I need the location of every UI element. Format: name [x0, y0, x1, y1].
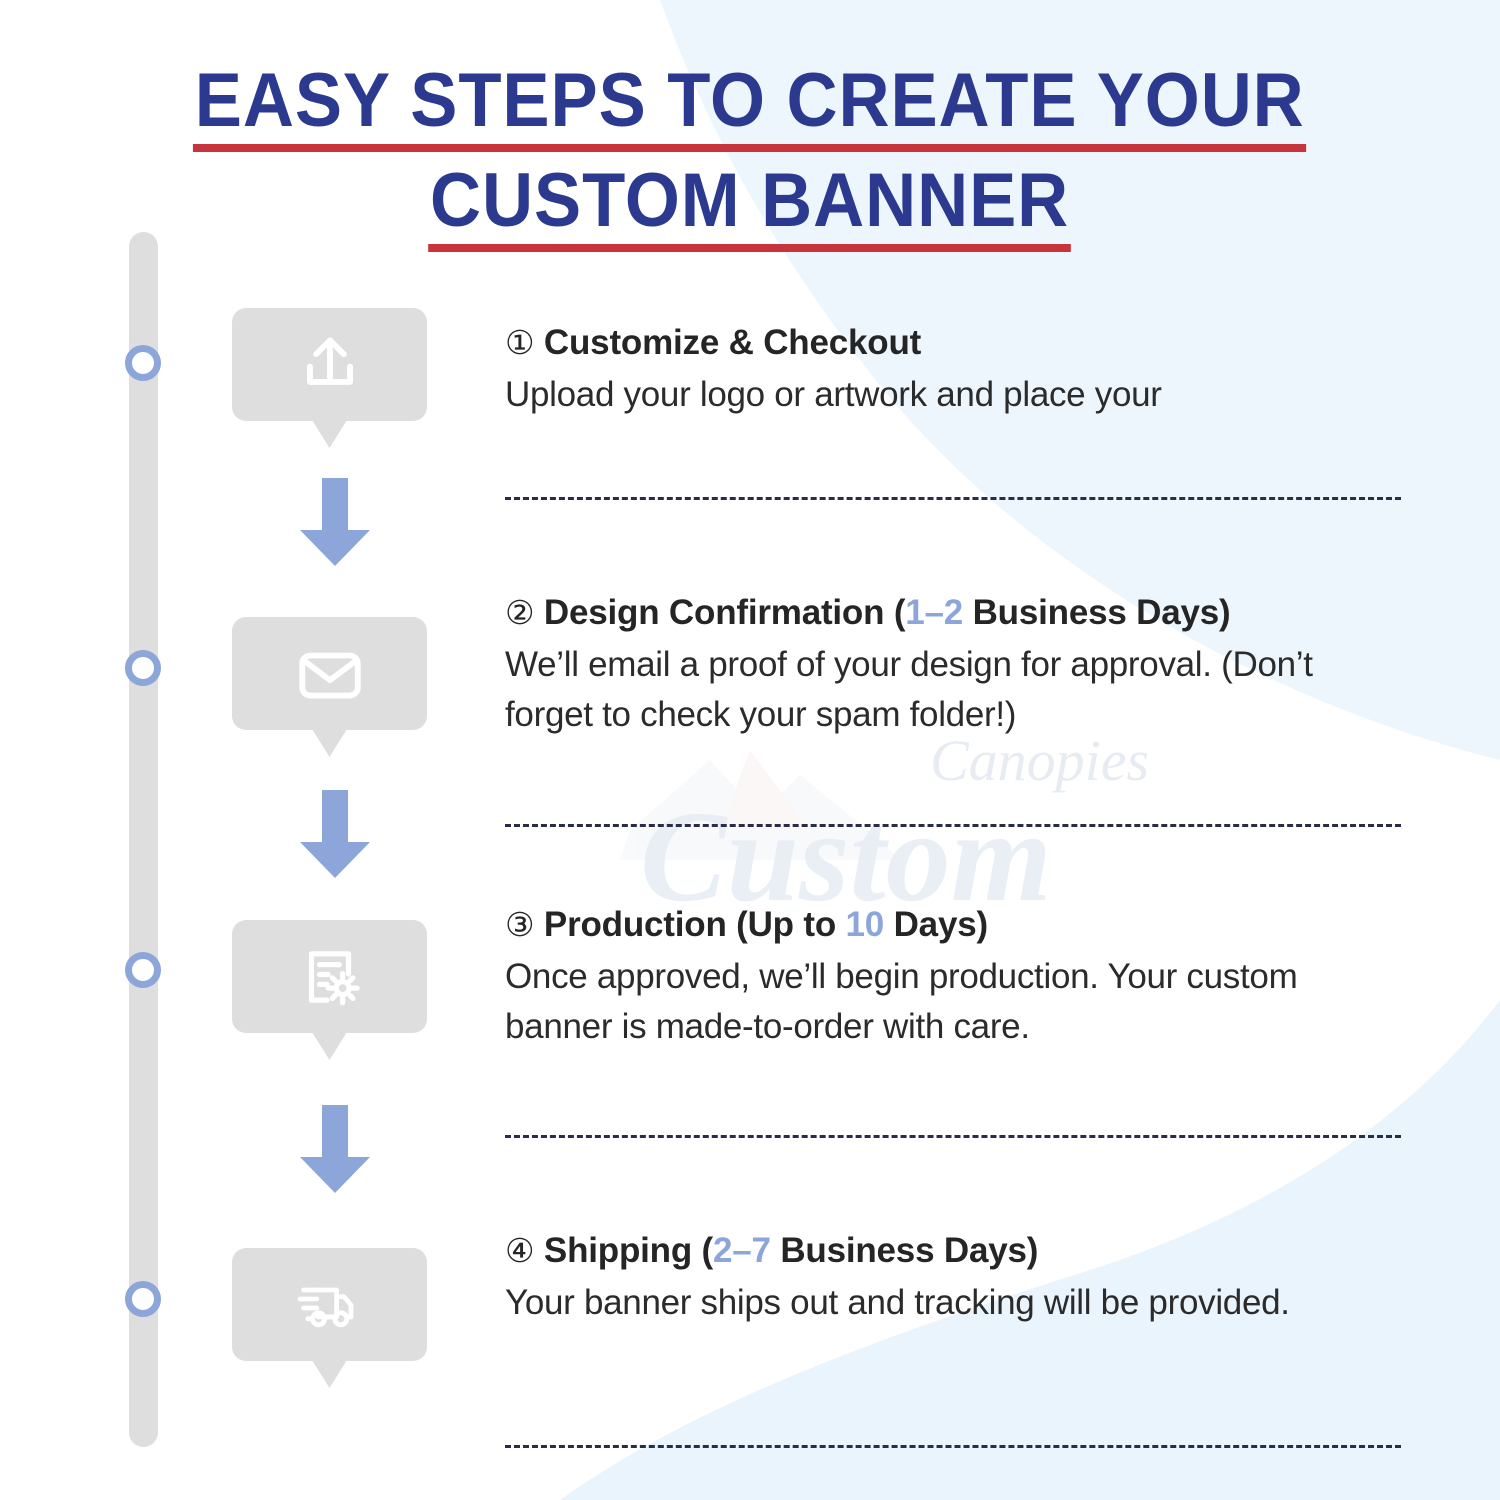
timeline-dot-3 [125, 952, 161, 988]
infographic-page: Canopies Custom EASY STEPS TO CREATE YOU… [0, 0, 1500, 1500]
flow-arrow-3 [296, 1105, 374, 1195]
step-heading-4: ④ Shipping (2–7 Business Days) [505, 1228, 1405, 1274]
step-text-1: ① Customize & Checkout Upload your logo … [505, 320, 1405, 420]
step-heading-1: ① Customize & Checkout [505, 320, 1405, 366]
step-heading-prefix-1: Customize & Checkout [544, 323, 921, 362]
document-gear-icon [232, 920, 427, 1033]
step-divider-4 [505, 1445, 1401, 1448]
timeline-rail [129, 232, 158, 1447]
step-heading-accent-4: 2–7 [713, 1231, 771, 1270]
flow-arrow-2 [296, 790, 374, 880]
page-title-line-1: EASY STEPS TO CREATE YOUR [189, 58, 1310, 154]
step-heading-prefix-3: Production (Up to [544, 905, 846, 944]
envelope-icon [232, 617, 427, 730]
step-text-3: ③ Production (Up to 10 Days) Once approv… [505, 902, 1405, 1052]
step-number-3: ③ [505, 906, 534, 943]
step-number-2: ② [505, 594, 534, 631]
step-number-1: ① [505, 324, 534, 361]
step-number-4: ④ [505, 1232, 534, 1269]
step-heading-suffix-3: Days) [884, 905, 988, 944]
step-badge-tail-2 [232, 729, 427, 759]
step-heading-prefix-4: Shipping ( [544, 1231, 713, 1270]
step-heading-3: ③ Production (Up to 10 Days) [505, 902, 1405, 948]
step-badge-tail-3 [232, 1032, 427, 1062]
step-body-1: Upload your logo or artwork and place yo… [505, 370, 1405, 420]
step-divider-2 [505, 824, 1401, 827]
step-badge-tail-1 [232, 420, 427, 450]
step-badge-tail-4 [232, 1360, 427, 1390]
page-title-line-2: CUSTOM BANNER [425, 158, 1075, 254]
flow-arrow-1 [296, 478, 374, 568]
step-divider-3 [505, 1135, 1401, 1138]
delivery-truck-icon [232, 1248, 427, 1361]
step-text-4: ④ Shipping (2–7 Business Days) Your bann… [505, 1228, 1405, 1328]
page-title: EASY STEPS TO CREATE YOUR CUSTOM BANNER [0, 58, 1500, 254]
step-body-3: Once approved, we’ll begin production. Y… [505, 952, 1405, 1052]
timeline-dot-1 [125, 345, 161, 381]
step-heading-suffix-4: Business Days) [771, 1231, 1038, 1270]
upload-icon [232, 308, 427, 421]
timeline-dot-4 [125, 1281, 161, 1317]
step-divider-1 [505, 497, 1401, 500]
step-heading-2: ② Design Confirmation (1–2 Business Days… [505, 590, 1405, 636]
step-body-4: Your banner ships out and tracking will … [505, 1278, 1405, 1328]
step-heading-accent-3: 10 [846, 905, 885, 944]
step-heading-suffix-2: Business Days) [963, 593, 1230, 632]
step-heading-prefix-2: Design Confirmation ( [544, 593, 905, 632]
step-text-2: ② Design Confirmation (1–2 Business Days… [505, 590, 1405, 740]
step-body-2: We’ll email a proof of your design for a… [505, 640, 1405, 740]
step-heading-accent-2: 1–2 [905, 593, 963, 632]
timeline-dot-2 [125, 650, 161, 686]
